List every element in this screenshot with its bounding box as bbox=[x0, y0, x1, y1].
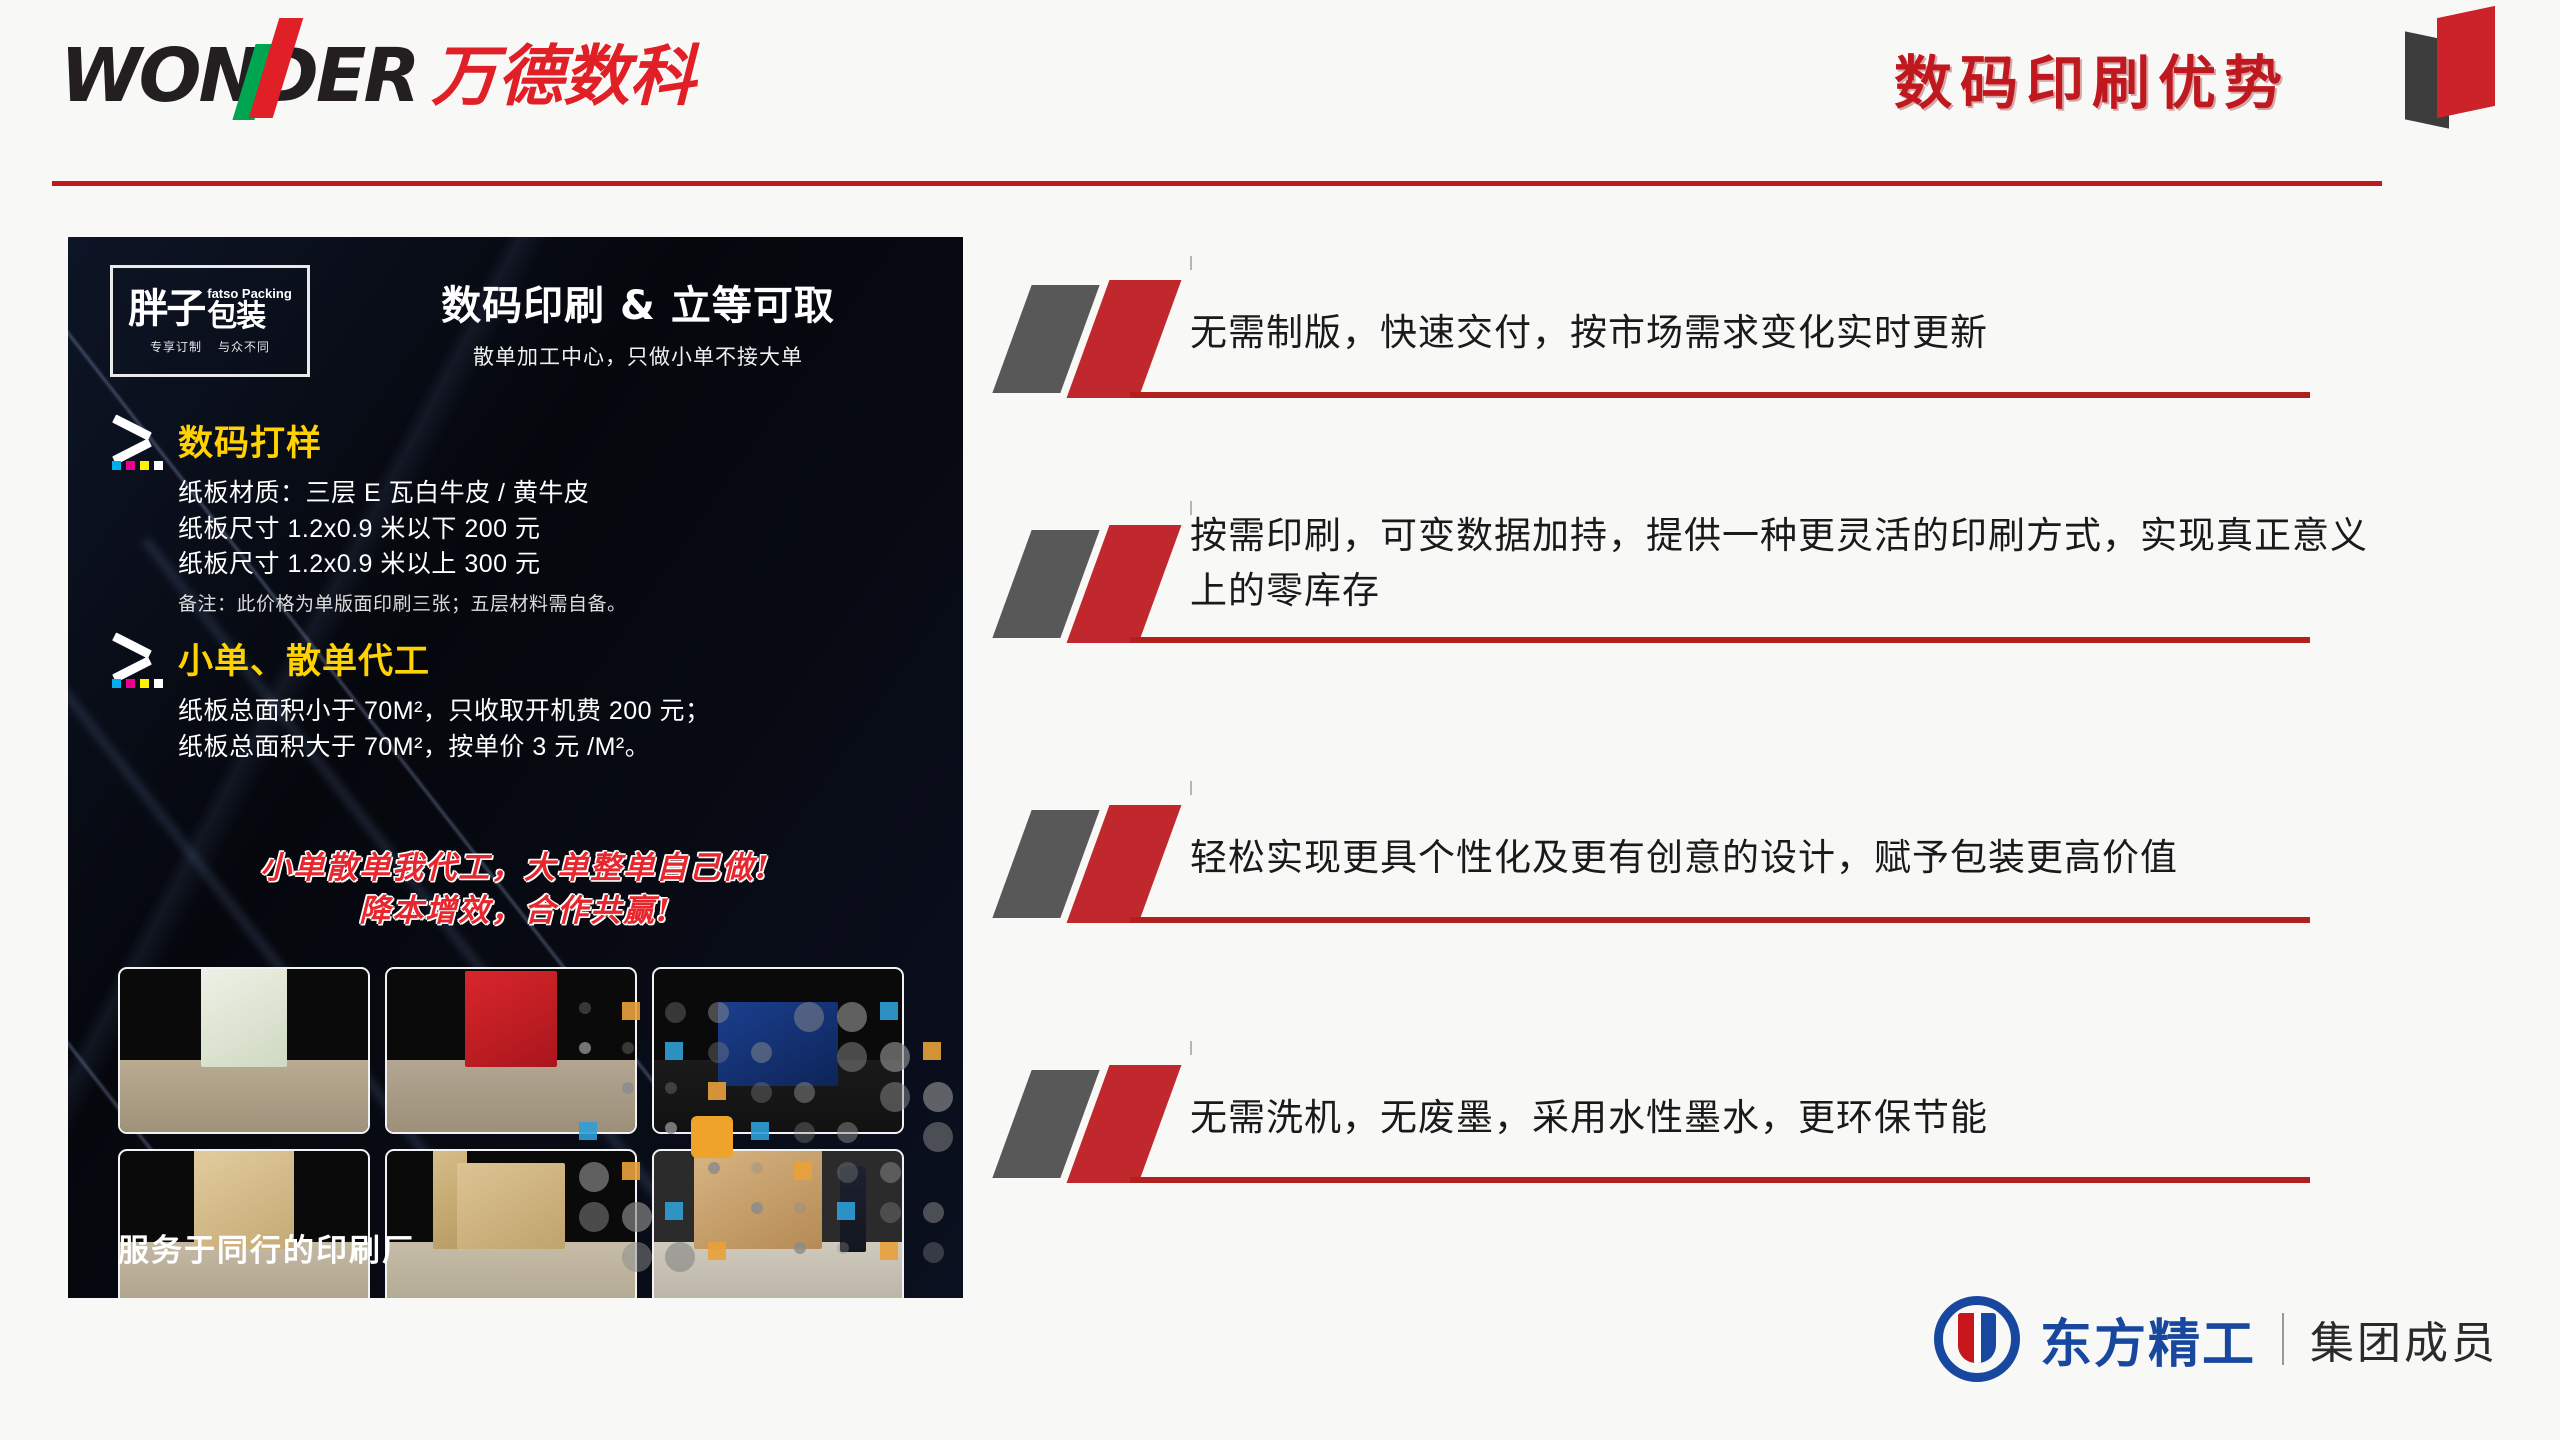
poster-footer-text: 服务于同行的印刷厂 bbox=[118, 1225, 415, 1270]
list-item-text: 轻松实现更具个性化及更有创意的设计，赋予包装更高价值 bbox=[1190, 831, 2400, 886]
list-item-underline bbox=[1130, 637, 2310, 643]
tick-mark bbox=[1190, 781, 1192, 795]
folded-card-icon bbox=[2395, 8, 2505, 128]
bullet-marker-icon bbox=[1010, 1065, 1190, 1183]
footer-divider bbox=[2282, 1313, 2284, 1365]
section-line: 纸板材质：三层 E 瓦白牛皮 / 黄牛皮 bbox=[178, 476, 627, 512]
dongfang-shield-icon bbox=[1934, 1296, 2020, 1382]
page-title: 数码印刷优势 bbox=[1894, 36, 2290, 120]
chevron-right-icon bbox=[110, 417, 168, 471]
fatso-tagline-left: 专享订制 bbox=[150, 338, 202, 355]
poster-section-digital-proofing: 数码打样 纸板材质：三层 E 瓦白牛皮 / 黄牛皮 纸板尺寸 1.2x0.9 米… bbox=[110, 415, 627, 616]
bullet-marker-icon bbox=[1010, 280, 1190, 398]
poster-headline-block: 数码印刷 & 立等可取 散单加工中心，只做小单不接大单 bbox=[368, 273, 908, 371]
header-divider bbox=[52, 181, 2382, 186]
poster-headline: 数码印刷 & 立等可取 bbox=[368, 273, 908, 331]
chevron-right-icon bbox=[110, 635, 168, 689]
section-line: 纸板总面积大于 70M²，按单价 3 元 /M²。 bbox=[178, 730, 711, 766]
footer-company-name: 东方精工 bbox=[2040, 1302, 2256, 1377]
section-line: 纸板尺寸 1.2x0.9 米以下 200 元 bbox=[178, 512, 627, 548]
poster-slogan-line2: 降本增效，合作共赢! bbox=[68, 890, 963, 933]
list-item-text: 无需洗机，无废墨，采用水性墨水，更环保节能 bbox=[1190, 1091, 2400, 1146]
product-photo bbox=[118, 967, 370, 1134]
list-item-text: 无需制版，快速交付，按市场需求变化实时更新 bbox=[1190, 306, 2400, 361]
fatso-logo-cn: 胖子 bbox=[128, 290, 204, 328]
list-item-underline bbox=[1130, 392, 2310, 398]
tick-mark bbox=[1190, 1041, 1192, 1055]
bullet-marker-icon bbox=[1010, 525, 1190, 643]
section-note: 备注：此价格为单版面印刷三张；五层材料需自备。 bbox=[178, 589, 627, 616]
section-line: 纸板总面积小于 70M²，只收取开机费 200 元； bbox=[178, 694, 711, 730]
section-line: 纸板尺寸 1.2x0.9 米以上 300 元 bbox=[178, 547, 627, 583]
section-title: 小单、散单代工 bbox=[178, 633, 711, 684]
section-title: 数码打样 bbox=[178, 415, 627, 466]
decorative-dot-pattern bbox=[573, 998, 963, 1298]
bullet-marker-icon bbox=[1010, 805, 1190, 923]
list-item-underline bbox=[1130, 917, 2310, 923]
list-item-underline bbox=[1130, 1177, 2310, 1183]
product-photo bbox=[118, 1149, 370, 1298]
wonder-logo-cn: 万德数科 bbox=[431, 44, 695, 110]
tick-mark bbox=[1190, 256, 1192, 270]
fatso-tagline-right: 与众不同 bbox=[218, 338, 270, 355]
poster-subheadline: 散单加工中心，只做小单不接大单 bbox=[368, 341, 908, 371]
footer-brand: 东方精工 集团成员 bbox=[1934, 1296, 2498, 1382]
poster-slogan-line1: 小单散单我代工，大单整单自己做! bbox=[68, 847, 963, 890]
fatso-packing-logo: 胖子 fatso Packing 包装 专享订制 与众不同 bbox=[110, 265, 310, 377]
poster-slogan: 小单散单我代工，大单整单自己做! 降本增效，合作共赢! bbox=[68, 847, 963, 933]
poster-section-small-order-oem: 小单、散单代工 纸板总面积小于 70M²，只收取开机费 200 元； 纸板总面积… bbox=[110, 633, 711, 765]
promo-poster-image: 胖子 fatso Packing 包装 专享订制 与众不同 数码印刷 & 立等可… bbox=[68, 237, 963, 1298]
footer-member-label: 集团成员 bbox=[2310, 1307, 2498, 1371]
wonder-logo-slash-icon bbox=[244, 24, 292, 120]
fatso-logo-sub: 包装 bbox=[207, 302, 292, 332]
slide-header: WONDER 万德数科 数码印刷优势 bbox=[0, 0, 2560, 190]
list-item-text: 按需印刷，可变数据加持，提供一种更灵活的印刷方式，实现真正意义上的零库存 bbox=[1190, 509, 2400, 619]
wonder-logo: WONDER 万德数科 bbox=[60, 38, 695, 110]
